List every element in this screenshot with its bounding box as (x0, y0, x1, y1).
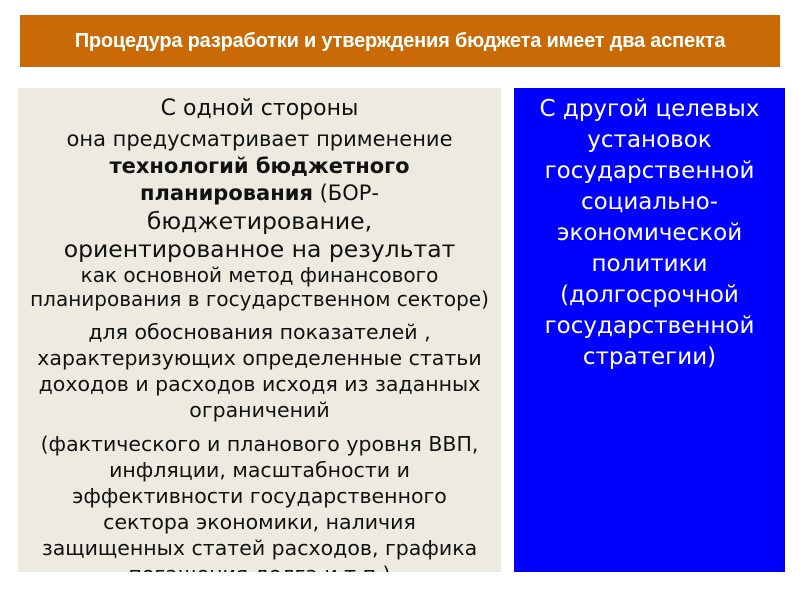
page-title: Процедура разработки и утверждения бюдже… (75, 29, 726, 54)
slide-canvas: Процедура разработки и утверждения бюдже… (0, 0, 800, 600)
left-panel-paragraph-2-tail-2: бюджетирование, (147, 207, 372, 235)
right-panel-text: С другой целевых установок государственн… (520, 92, 779, 373)
right-content-panel: С другой целевых установок государственн… (514, 88, 785, 572)
left-panel-paragraph-2-tail-lines: бюджетирование,ориентированное на резуль… (30, 207, 489, 263)
left-panel-paragraph-5: (фактического и планового уровня ВВП, ин… (30, 423, 489, 572)
left-content-panel: С одной стороны она предусматривает прим… (18, 88, 501, 572)
slide-title-banner: Процедура разработки и утверждения бюдже… (20, 15, 780, 67)
left-panel-paragraph-4: для обоснования показателей , характериз… (30, 311, 489, 423)
left-panel-paragraph-2-tail-1: (БОР- (313, 181, 379, 205)
left-panel-paragraph-2-tail-3: ориентированное на результат (64, 235, 456, 263)
left-panel-heading: С одной стороны (30, 92, 489, 124)
left-panel-paragraph-3: как основной метод финансового планирова… (30, 263, 489, 311)
left-panel-paragraph-2: она предусматривает применение технологи… (30, 124, 489, 207)
left-panel-paragraph-2-lead: она предусматривает применение (66, 127, 452, 151)
